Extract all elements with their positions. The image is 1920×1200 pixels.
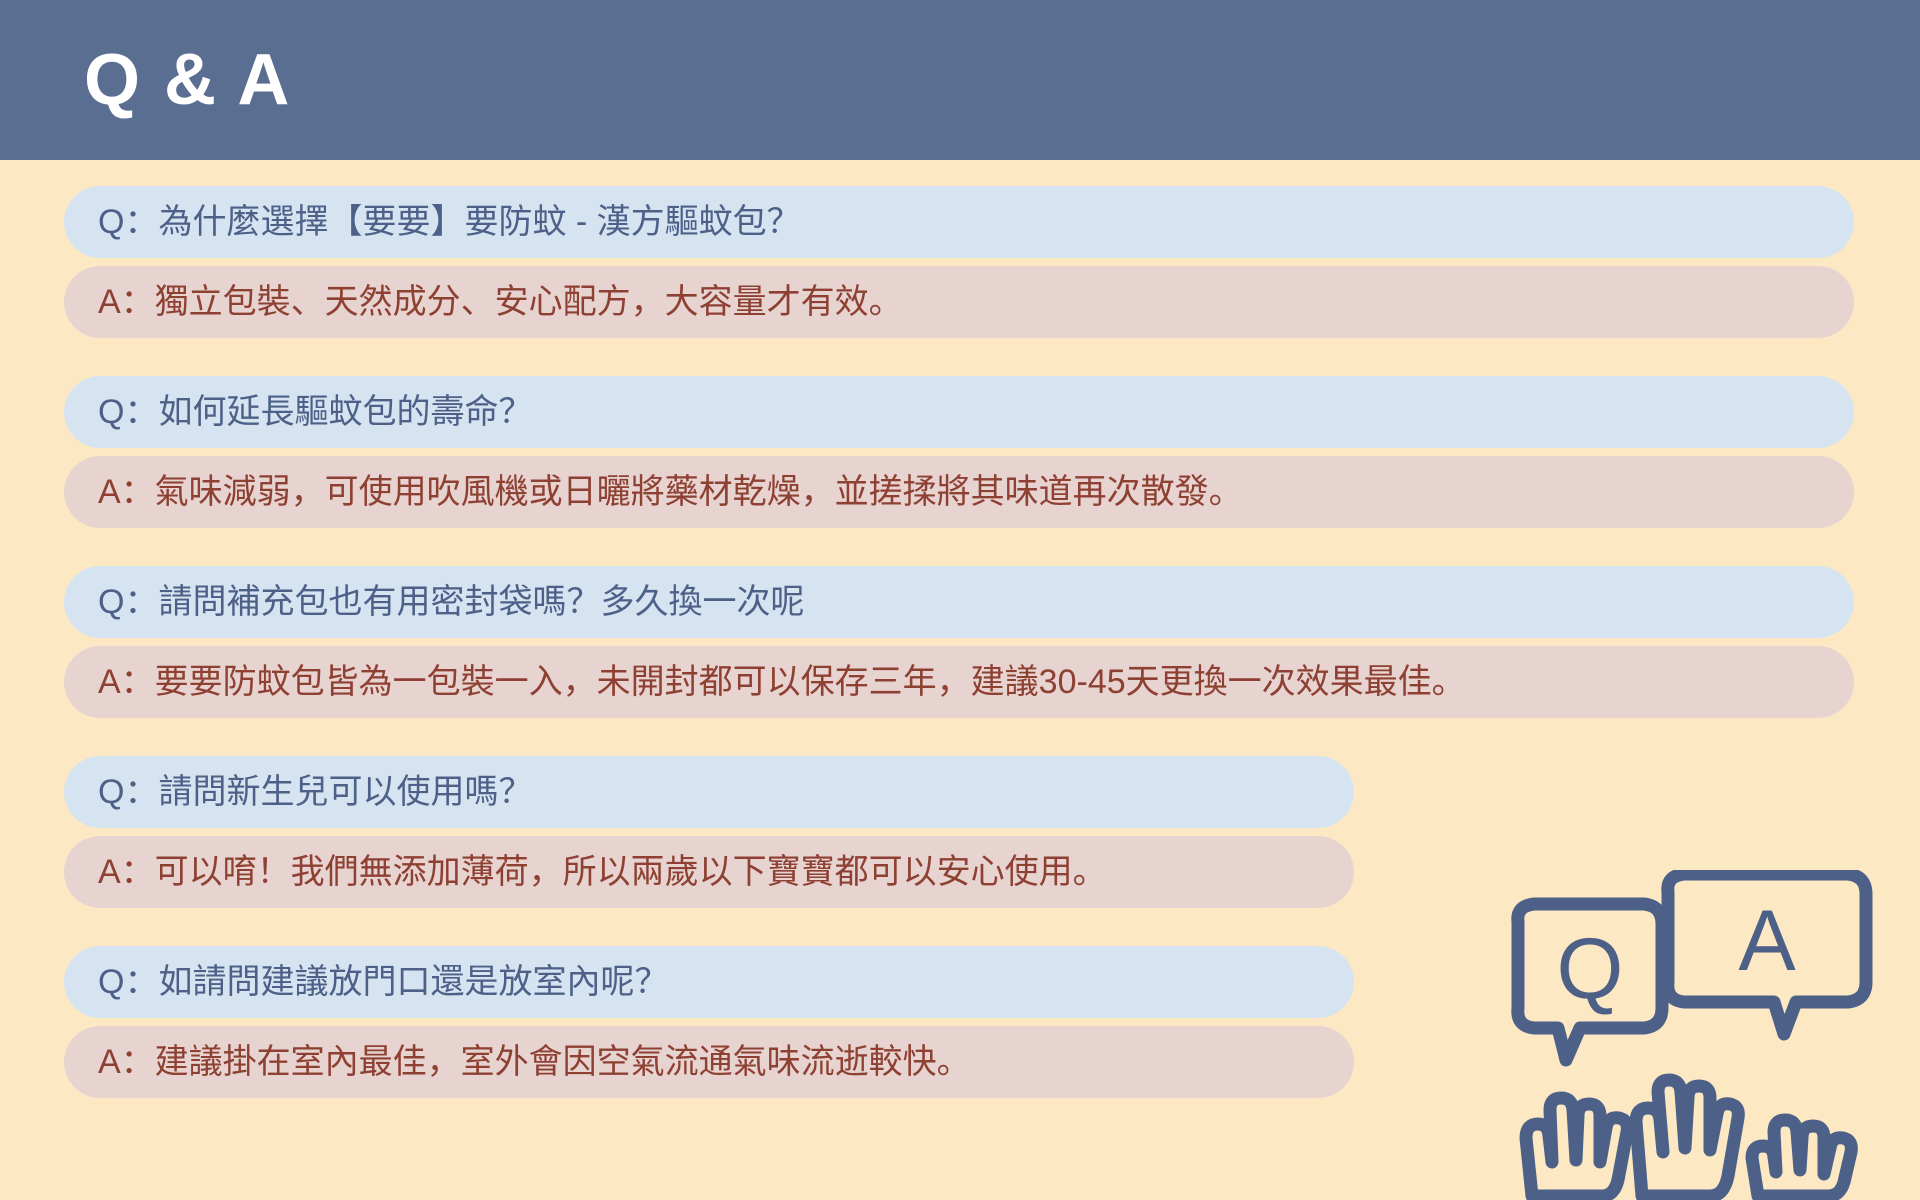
qa-group: Q：請問補充包也有用密封袋嗎？多久換一次呢 A：要要防蚊包皆為一包裝一入，未開封… <box>64 566 1920 718</box>
page-header: Q & A <box>0 0 1920 160</box>
answer-pill: A：建議掛在室內最佳，室外會因空氣流通氣味流逝較快。 <box>64 1026 1354 1098</box>
qa-page: Q & A Q：為什麼選擇【要要】要防蚊 - 漢方驅蚊包？ A：獨立包裝、天然成… <box>0 0 1920 1200</box>
qa-list: Q：為什麼選擇【要要】要防蚊 - 漢方驅蚊包？ A：獨立包裝、天然成分、安心配方… <box>0 186 1920 1136</box>
qa-group: Q：請問新生兒可以使用嗎？ A：可以唷！我們無添加薄荷，所以兩歲以下寶寶都可以安… <box>64 756 1920 908</box>
question-pill[interactable]: Q：請問新生兒可以使用嗎？ <box>64 756 1354 828</box>
answer-pill: A：獨立包裝、天然成分、安心配方，大容量才有效。 <box>64 266 1854 338</box>
qa-group: Q：如何延長驅蚊包的壽命？ A：氣味減弱，可使用吹風機或日曬將藥材乾燥，並搓揉將… <box>64 376 1920 528</box>
question-pill[interactable]: Q：請問補充包也有用密封袋嗎？多久換一次呢 <box>64 566 1854 638</box>
question-pill[interactable]: Q：如請問建議放門口還是放室內呢？ <box>64 946 1354 1018</box>
qa-group: Q：如請問建議放門口還是放室內呢？ A：建議掛在室內最佳，室外會因空氣流通氣味流… <box>64 946 1920 1098</box>
page-title: Q & A <box>84 44 291 116</box>
question-pill[interactable]: Q：為什麼選擇【要要】要防蚊 - 漢方驅蚊包？ <box>64 186 1854 258</box>
answer-pill: A：可以唷！我們無添加薄荷，所以兩歲以下寶寶都可以安心使用。 <box>64 836 1354 908</box>
question-pill[interactable]: Q：如何延長驅蚊包的壽命？ <box>64 376 1854 448</box>
qa-group: Q：為什麼選擇【要要】要防蚊 - 漢方驅蚊包？ A：獨立包裝、天然成分、安心配方… <box>64 186 1920 338</box>
answer-pill: A：氣味減弱，可使用吹風機或日曬將藥材乾燥，並搓揉將其味道再次散發。 <box>64 456 1854 528</box>
answer-pill: A：要要防蚊包皆為一包裝一入，未開封都可以保存三年，建議30-45天更換一次效果… <box>64 646 1854 718</box>
